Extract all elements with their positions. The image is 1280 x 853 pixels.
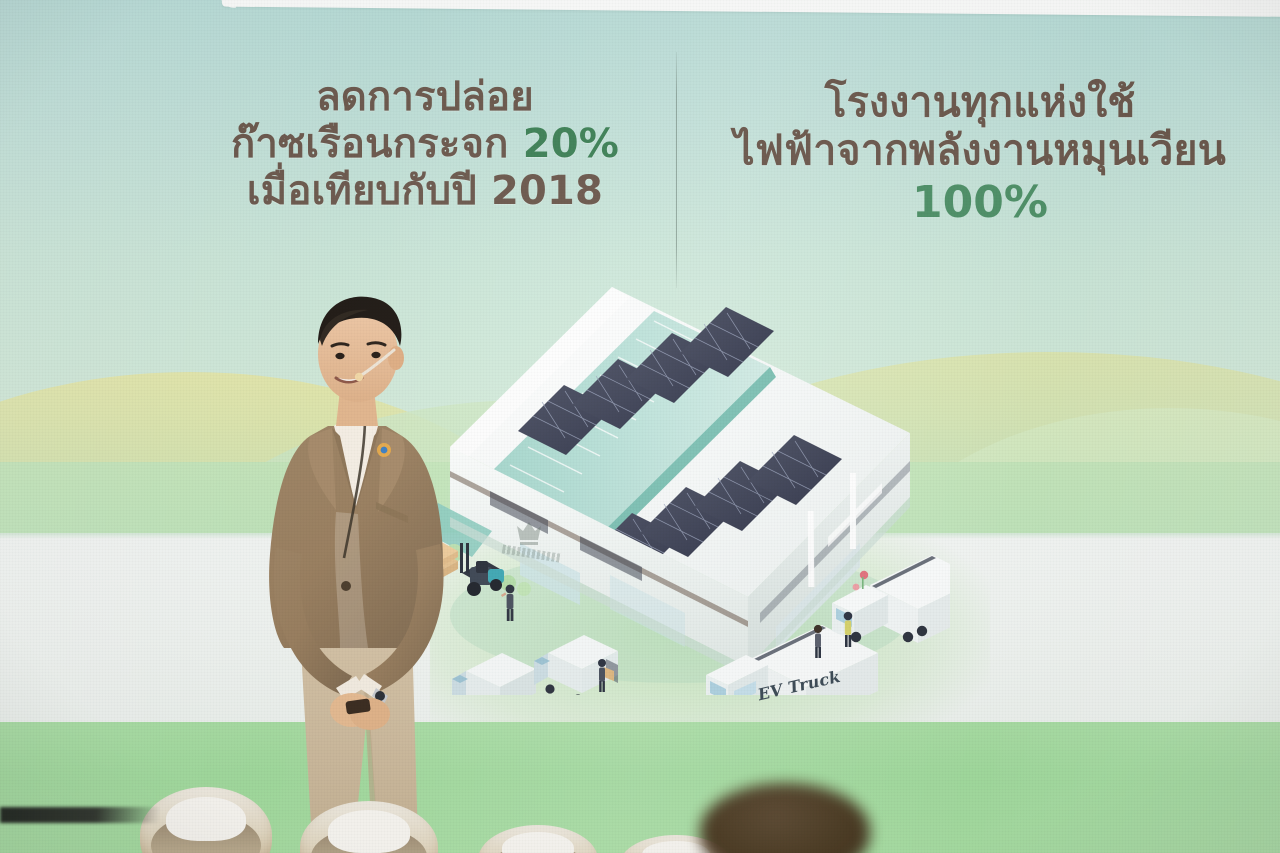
foreground-prop-2 — [300, 801, 438, 853]
prop-crown — [166, 797, 245, 841]
isometric-factory-illustration — [430, 275, 950, 695]
building-logo-icon — [512, 520, 546, 550]
headline-right-line-2: ไฟฟ้าจากพลังงานหมุนเวียน — [700, 126, 1260, 174]
presenter-figure — [236, 286, 500, 853]
factory-svg — [430, 275, 950, 695]
headline-left-block: ลดการปล่อย ก๊าซเรือนกระจก 20% เมื่อเทียบ… — [190, 74, 660, 216]
prop-crown — [642, 841, 709, 853]
foreground-prop-3 — [478, 825, 598, 853]
metric-100-percent: 100% — [700, 177, 1260, 229]
stage-floor-edge — [0, 807, 160, 823]
foreground-audience — [0, 783, 1280, 853]
metric-20-percent: 20% — [523, 121, 619, 167]
worker-figure-2 — [598, 659, 606, 692]
headline-left-line-3: เมื่อเทียบกับปี 2018 — [190, 168, 660, 215]
headline-left-line-2-text: ก๊าซเรือนกระจก — [231, 121, 523, 167]
slide-headline: ลดการปล่อย ก๊าซเรือนกระจก 20% เมื่อเทียบ… — [0, 0, 1280, 300]
prop-crown — [328, 810, 411, 852]
headline-right-line-1: โรงงานทุกแห่งใช้ — [700, 78, 1260, 126]
presenter-svg — [236, 286, 500, 853]
baseline-year-2018: 2018 — [491, 168, 603, 214]
headline-divider — [676, 52, 677, 288]
headline-left-line-2: ก๊าซเรือนกระจก 20% — [190, 121, 660, 168]
headline-left-line-1: ลดการปล่อย — [190, 74, 660, 121]
foreground-audience-head — [700, 783, 870, 853]
prop-crown — [502, 832, 574, 853]
headline-right-block: โรงงานทุกแห่งใช้ ไฟฟ้าจากพลังงานหมุนเวีย… — [700, 78, 1260, 229]
headline-left-line-3-text: เมื่อเทียบกับปี — [247, 168, 491, 214]
presentation-stage: ลดการปล่อย ก๊าซเรือนกระจก 20% เมื่อเทียบ… — [0, 0, 1280, 853]
